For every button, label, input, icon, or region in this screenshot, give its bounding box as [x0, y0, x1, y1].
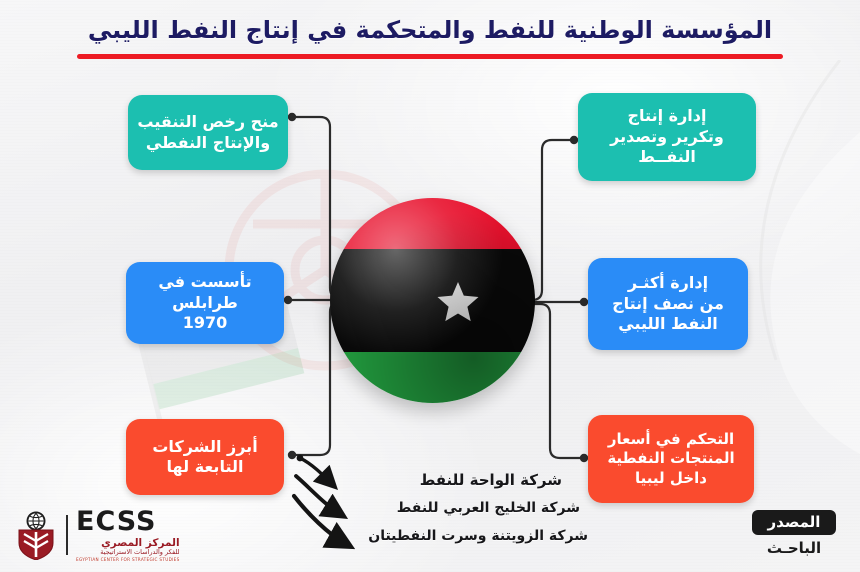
fact-box-prices[interactable]: التحكم في أسعار المنتجات النفطية داخل لي…	[588, 415, 754, 503]
list-item: شركة الزويتنة وسرت النفطيتان	[330, 522, 588, 550]
fact-line: أبرز الشركات	[152, 437, 257, 457]
fact-line: التحكم في أسعار	[608, 430, 734, 449]
ecss-arabic-subtitle: للفكر والدراسات الاستراتيجية	[76, 549, 180, 557]
ecss-arabic-name: المركز المصري	[76, 537, 180, 549]
ecss-logo: ECSS المركز المصري للفكر والدراسات الاست…	[14, 507, 196, 563]
fact-box-refining[interactable]: إدارة إنتاج وتكرير وتصدير النفــط	[578, 93, 756, 181]
fact-line: طرابلس	[172, 293, 238, 313]
fact-line: التابعة لها	[167, 457, 244, 477]
fact-line: داخل ليبيا	[635, 469, 707, 488]
fact-line: النفــط	[638, 147, 696, 167]
fact-line: منح رخص التنقيب	[137, 112, 278, 132]
fact-line: المنتجات النفطية	[607, 449, 734, 468]
fact-line: إدارة إنتاج	[628, 106, 707, 126]
source-block: المصدر الباحـث	[742, 510, 846, 557]
page-title: المؤسسة الوطنية للنفط والمتحكمة في إنتاج…	[0, 16, 860, 45]
ecss-shield-icon	[14, 510, 58, 560]
ecss-acronym: ECSS	[76, 508, 180, 535]
source-label: المصدر	[752, 510, 837, 535]
fact-line: وتكرير وتصدير	[610, 127, 724, 147]
ecss-wordmark: ECSS المركز المصري للفكر والدراسات الاست…	[76, 508, 180, 563]
fact-box-licensing[interactable]: منح رخص التنقيب والإنتاج النفطي	[128, 95, 288, 170]
list-item: شركة الخليج العربي للنفط	[330, 494, 588, 522]
source-name: الباحـث	[742, 539, 846, 557]
fact-box-half-output[interactable]: إدارة أكثـر من نصف إنتاج النفط الليبي	[588, 258, 748, 350]
subsidiaries-list: شركة الواحة للنفط شركة الخليج العربي للن…	[330, 466, 588, 550]
fact-box-founded[interactable]: تأسست في طرابلس 1970	[126, 262, 284, 344]
fact-line: تأسست في	[158, 272, 251, 292]
fact-line: والإنتاج النفطي	[146, 133, 270, 153]
sphere-shading	[330, 198, 535, 403]
libya-flag-sphere	[330, 198, 535, 403]
fact-box-subsidiaries[interactable]: أبرز الشركات التابعة لها	[126, 419, 284, 495]
fact-line: من نصف إنتاج	[612, 294, 724, 314]
list-item: شركة الواحة للنفط	[330, 466, 588, 494]
fact-line: 1970	[183, 313, 228, 333]
ecss-english-subtitle: EGYPTIAN CENTER FOR STRATEGIC STUDIES	[76, 557, 180, 562]
fact-line: النفط الليبي	[618, 314, 718, 334]
infographic-canvas: المؤسسة الوطنية للنفط والمتحكمة في إنتاج…	[0, 0, 860, 572]
logo-divider	[66, 515, 68, 555]
fact-line: إدارة أكثـر	[628, 273, 708, 293]
title-block: المؤسسة الوطنية للنفط والمتحكمة في إنتاج…	[0, 16, 860, 59]
title-underline	[77, 54, 783, 59]
